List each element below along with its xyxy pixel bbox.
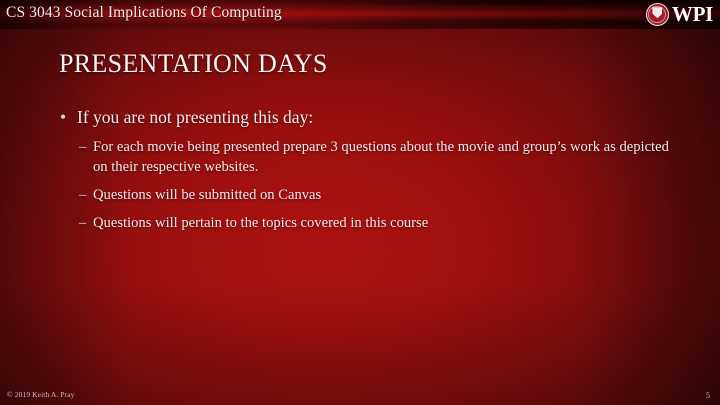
bullet-level2: – Questions will pertain to the topics c… (56, 213, 686, 233)
sub-bullet-list: – For each movie being presented prepare… (56, 137, 686, 233)
bullet-level1-text: If you are not presenting this day: (77, 107, 313, 127)
bullet-level2: – For each movie being presented prepare… (56, 137, 686, 177)
wpi-wordmark: WPI (672, 4, 713, 25)
dash-marker-icon: – (79, 185, 86, 205)
dash-marker-icon: – (79, 213, 86, 233)
bullet-level1: • If you are not presenting this day: (56, 105, 686, 129)
bullet-level2: – Questions will be submitted on Canvas (56, 185, 686, 205)
course-title: CS 3043 Social Implications Of Computing (6, 3, 282, 23)
bullet-level2-text: For each movie being presented prepare 3… (93, 139, 669, 175)
slide-header-bar: CS 3043 Social Implications Of Computing… (0, 0, 720, 29)
dash-marker-icon: – (79, 137, 86, 157)
slide-body: • If you are not presenting this day: – … (56, 105, 686, 241)
bullet-level2-text: Questions will be submitted on Canvas (93, 187, 321, 203)
slide-page-number: 5 (706, 390, 710, 400)
wpi-logo: WPI (646, 1, 713, 28)
page-title: PRESENTATION DAYS (59, 48, 328, 80)
wpi-seal-icon (646, 3, 669, 26)
presentation-slide: CS 3043 Social Implications Of Computing… (0, 0, 720, 405)
copyright-notice: © 2019 Keith A. Pray (7, 390, 75, 400)
bullet-dot-icon: • (60, 105, 66, 129)
bullet-level2-text: Questions will pertain to the topics cov… (93, 215, 428, 231)
